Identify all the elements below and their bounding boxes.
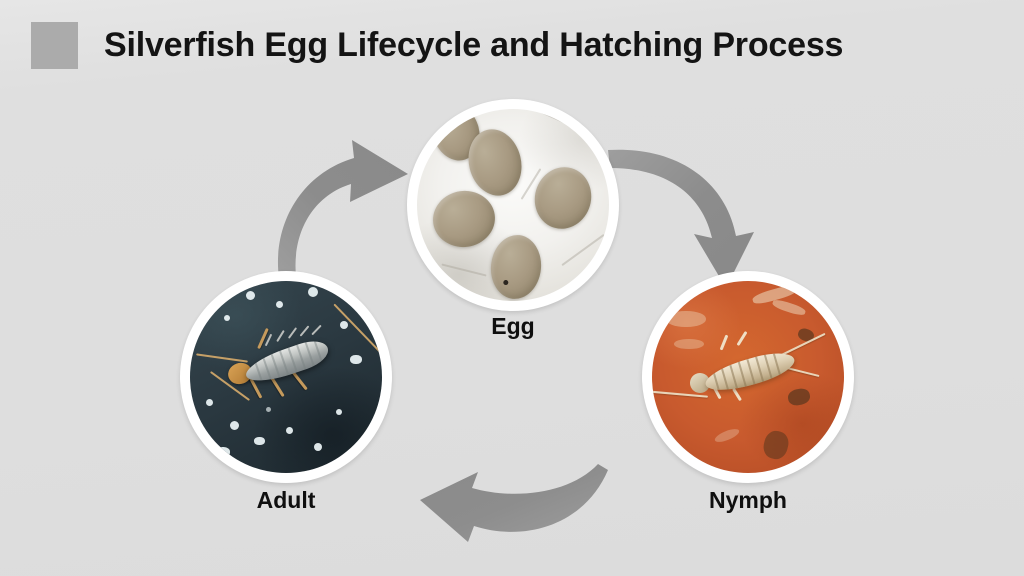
adult-photo-background xyxy=(190,281,382,473)
stage-nymph[interactable]: Nymph xyxy=(642,271,854,483)
silverfish-egg xyxy=(429,187,498,251)
egg-substrate-fiber xyxy=(538,110,579,130)
adult-surface-fleck xyxy=(230,421,239,430)
page-title: Silverfish Egg Lifecycle and Hatching Pr… xyxy=(104,20,843,70)
nymph-photo xyxy=(652,281,844,473)
adult-surface-fleck xyxy=(216,447,230,457)
adult-surface-fleck xyxy=(308,287,318,297)
nymph-debris xyxy=(666,311,706,327)
nymph-leg xyxy=(732,388,742,401)
stage-egg[interactable]: Egg xyxy=(407,99,619,311)
nymph-debris xyxy=(713,426,740,444)
nymph-debris-dark xyxy=(787,387,812,407)
stage-label-egg: Egg xyxy=(407,313,619,340)
nymph-leg xyxy=(720,335,729,351)
nymph-debris-dark xyxy=(675,294,688,305)
adult-photo xyxy=(190,281,382,473)
adult-surface-fleck xyxy=(266,407,271,412)
adult-surface-fleck xyxy=(286,427,293,434)
adult-body xyxy=(242,336,332,389)
adult-spine xyxy=(276,330,285,342)
egg-photo-circle[interactable] xyxy=(407,99,619,311)
nymph-body xyxy=(702,347,798,397)
egg-substrate-fiber xyxy=(441,263,486,276)
adult-surface-fleck xyxy=(336,409,342,415)
adult-photo-circle[interactable] xyxy=(180,271,392,483)
egg-substrate-fiber xyxy=(561,234,604,266)
stage-label-nymph: Nymph xyxy=(642,487,854,514)
adult-surface-fleck xyxy=(224,315,230,321)
accent-square-decoration xyxy=(31,22,78,69)
adult-spine xyxy=(311,325,321,336)
arrow-nymph-to-adult-icon xyxy=(412,442,612,552)
arrow-egg-to-nymph-icon xyxy=(604,138,774,288)
egg-photo xyxy=(417,109,609,301)
adult-cercus xyxy=(196,353,248,362)
egg-photo-background xyxy=(417,109,609,301)
stage-adult[interactable]: Adult xyxy=(180,271,392,483)
adult-antenna xyxy=(322,281,382,306)
nymph-photo-circle[interactable] xyxy=(642,271,854,483)
slide-canvas: Silverfish Egg Lifecycle and Hatching Pr… xyxy=(0,0,1024,576)
adult-surface-fleck xyxy=(314,443,322,451)
nymph-debris-dark xyxy=(761,429,791,462)
nymph-photo-background xyxy=(652,281,844,473)
adult-spine xyxy=(300,325,310,336)
adult-spine xyxy=(288,327,297,339)
nymph-leg xyxy=(736,331,747,346)
adult-surface-fleck xyxy=(254,437,265,445)
nymph-debris xyxy=(771,298,806,317)
adult-surface-fleck xyxy=(246,291,255,300)
silverfish-egg xyxy=(488,233,544,301)
egg-dark-spot xyxy=(503,280,508,285)
adult-surface-fleck xyxy=(350,355,362,364)
adult-surface-fleck xyxy=(276,301,283,308)
adult-surface-fleck xyxy=(206,399,213,406)
stage-label-adult: Adult xyxy=(180,487,392,514)
adult-surface-fleck xyxy=(340,321,348,329)
header: Silverfish Egg Lifecycle and Hatching Pr… xyxy=(0,0,1024,92)
nymph-debris xyxy=(674,339,704,349)
